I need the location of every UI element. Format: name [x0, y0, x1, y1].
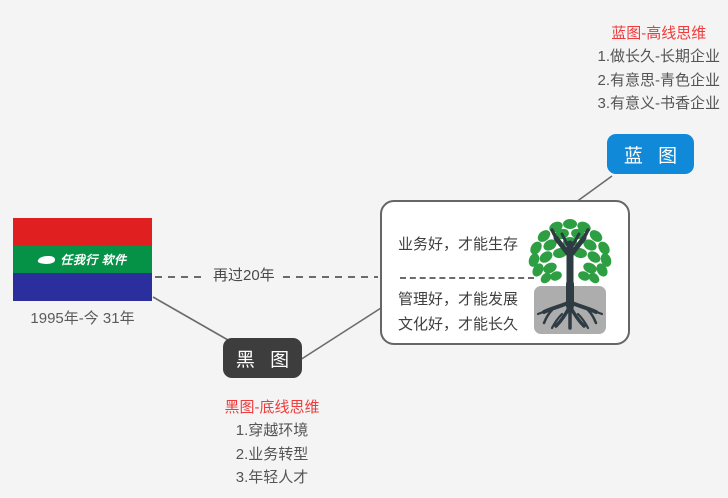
- bridge-label: 再过20年: [213, 264, 275, 285]
- company-flag-logo: 任我行 软件: [13, 218, 152, 301]
- badge-blackprint[interactable]: 黑 图: [223, 338, 302, 378]
- black-note-item: 3.年轻人才: [186, 466, 358, 489]
- logo-text: 任我行 软件: [60, 251, 126, 268]
- card-text-group: 业务好，才能生存 管理好，才能发展 文化好，才能长久: [398, 232, 538, 337]
- content-card: 业务好，才能生存 管理好，才能发展 文化好，才能长久: [380, 200, 630, 345]
- blue-note-title: 蓝图-高线思维: [597, 22, 720, 45]
- blue-note-item: 2.有意思-青色企业: [597, 69, 720, 92]
- card-line-top: 业务好，才能生存: [398, 232, 538, 257]
- link-card-to-black-badge: [300, 308, 381, 360]
- swoosh-icon: [37, 256, 56, 264]
- card-line-bottom: 文化好，才能长久: [398, 312, 538, 337]
- logo-wordmark-group: 任我行 软件: [13, 246, 152, 274]
- flag-caption: 1995年-今 31年: [13, 307, 152, 328]
- link-flag-to-black-badge: [153, 297, 228, 340]
- black-annotation-block: 黑图-底线思维 1.穿越环境 2.业务转型 3.年轻人才: [186, 396, 358, 489]
- flag-band-blue: [13, 273, 152, 301]
- tree-with-roots-icon: [522, 210, 618, 338]
- black-note-item: 1.穿越环境: [186, 419, 358, 442]
- card-divider: [400, 277, 534, 279]
- blue-annotation-block: 蓝图-高线思维 1.做长久-长期企业 2.有意思-青色企业 3.有意义-书香企业: [597, 22, 720, 115]
- blue-note-item: 3.有意义-书香企业: [597, 92, 720, 115]
- mindmap-canvas: 蓝图-高线思维 1.做长久-长期企业 2.有意思-青色企业 3.有意义-书香企业…: [0, 0, 728, 498]
- flag-band-green: 任我行 软件: [13, 246, 152, 274]
- blue-note-item: 1.做长久-长期企业: [597, 45, 720, 68]
- flag-band-red: [13, 218, 152, 246]
- black-note-title: 黑图-底线思维: [186, 396, 358, 419]
- badge-blueprint[interactable]: 蓝 图: [607, 134, 694, 174]
- card-line-bottom: 管理好，才能发展: [398, 287, 538, 312]
- black-note-item: 2.业务转型: [186, 443, 358, 466]
